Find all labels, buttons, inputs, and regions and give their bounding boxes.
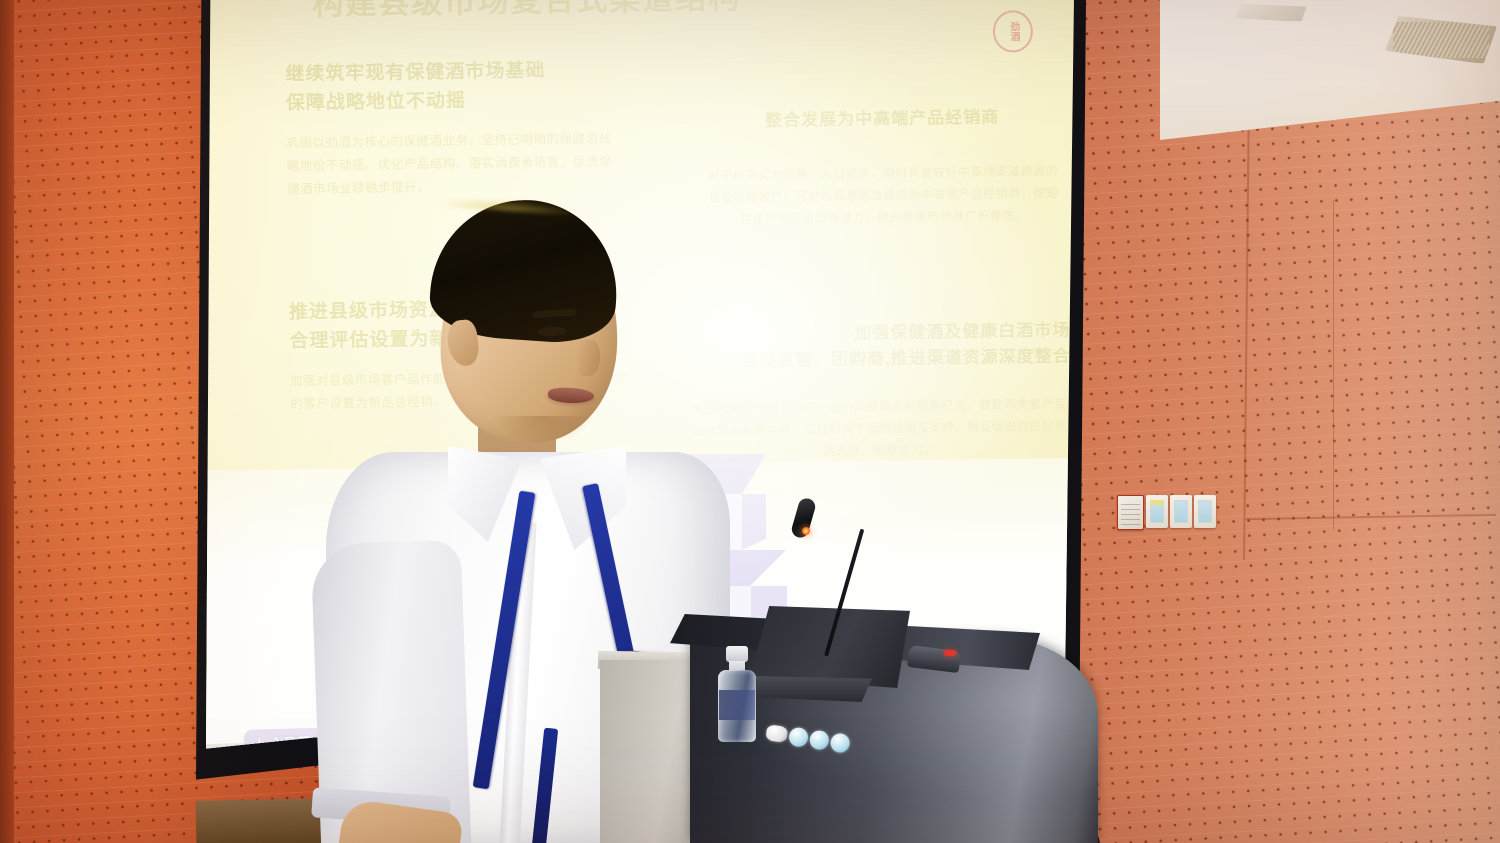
microphone-base-led [944,650,956,656]
water-bottle [716,646,758,742]
light-switch-2[interactable] [1170,495,1192,528]
slide-block-bottom-right: 加强保健酒及健康白酒市场 互设直营、团购商,推进渠道资源深度整合 发掘两类客户对… [685,318,1072,465]
bottle-cap [726,646,748,662]
light-switch-3[interactable] [1194,495,1216,528]
slide-block-top-right-body: 对于经济实力较强、人口较多，同时具备较好中高端渠道资源的县级市场客户，可结合其意… [703,159,1064,231]
microphone-indicator-led [802,527,810,535]
brand-seal-logo: 劲酒 [993,10,1034,53]
wall-seam-vertical-right [1333,200,1334,530]
slide-block-top-left-heading-2: 保障战略地位不动摇 [286,85,616,118]
podium-emblem-dot-1 [765,724,788,743]
wall-left-edge [0,0,14,843]
slide-block-bottom-right-heading-2: 互设直营、团购商,推进渠道资源深度整合 [686,344,1071,376]
speaker-chin-shadow [488,416,598,452]
slide-title: 构建县级市场复合式渠道结构 [312,0,973,24]
brand-seal-text: 劲酒 [1008,21,1018,41]
presentation-photo-scene: 构建县级市场复合式渠道结构 劲酒 继续筑牢现有保健酒市场基础 保障战略地位不动摇… [0,0,1500,843]
podium-emblem-dot-2 [788,726,809,747]
light-switch-1[interactable] [1146,495,1168,528]
slide-block-top-right-heading-1: 整合发展为中高端产品经销商 [702,104,1062,135]
podium-emblem-dot-4 [829,732,850,753]
podium-emblem-dot-3 [809,729,830,750]
slide-block-top-right: 整合发展为中高端产品经销商 对于经济实力较强、人口较多，同时具备较好中高端渠道资… [702,104,1064,231]
bottle-label [719,690,755,720]
speaker-nose [578,340,600,376]
thermostat-panel[interactable] [1117,495,1144,530]
